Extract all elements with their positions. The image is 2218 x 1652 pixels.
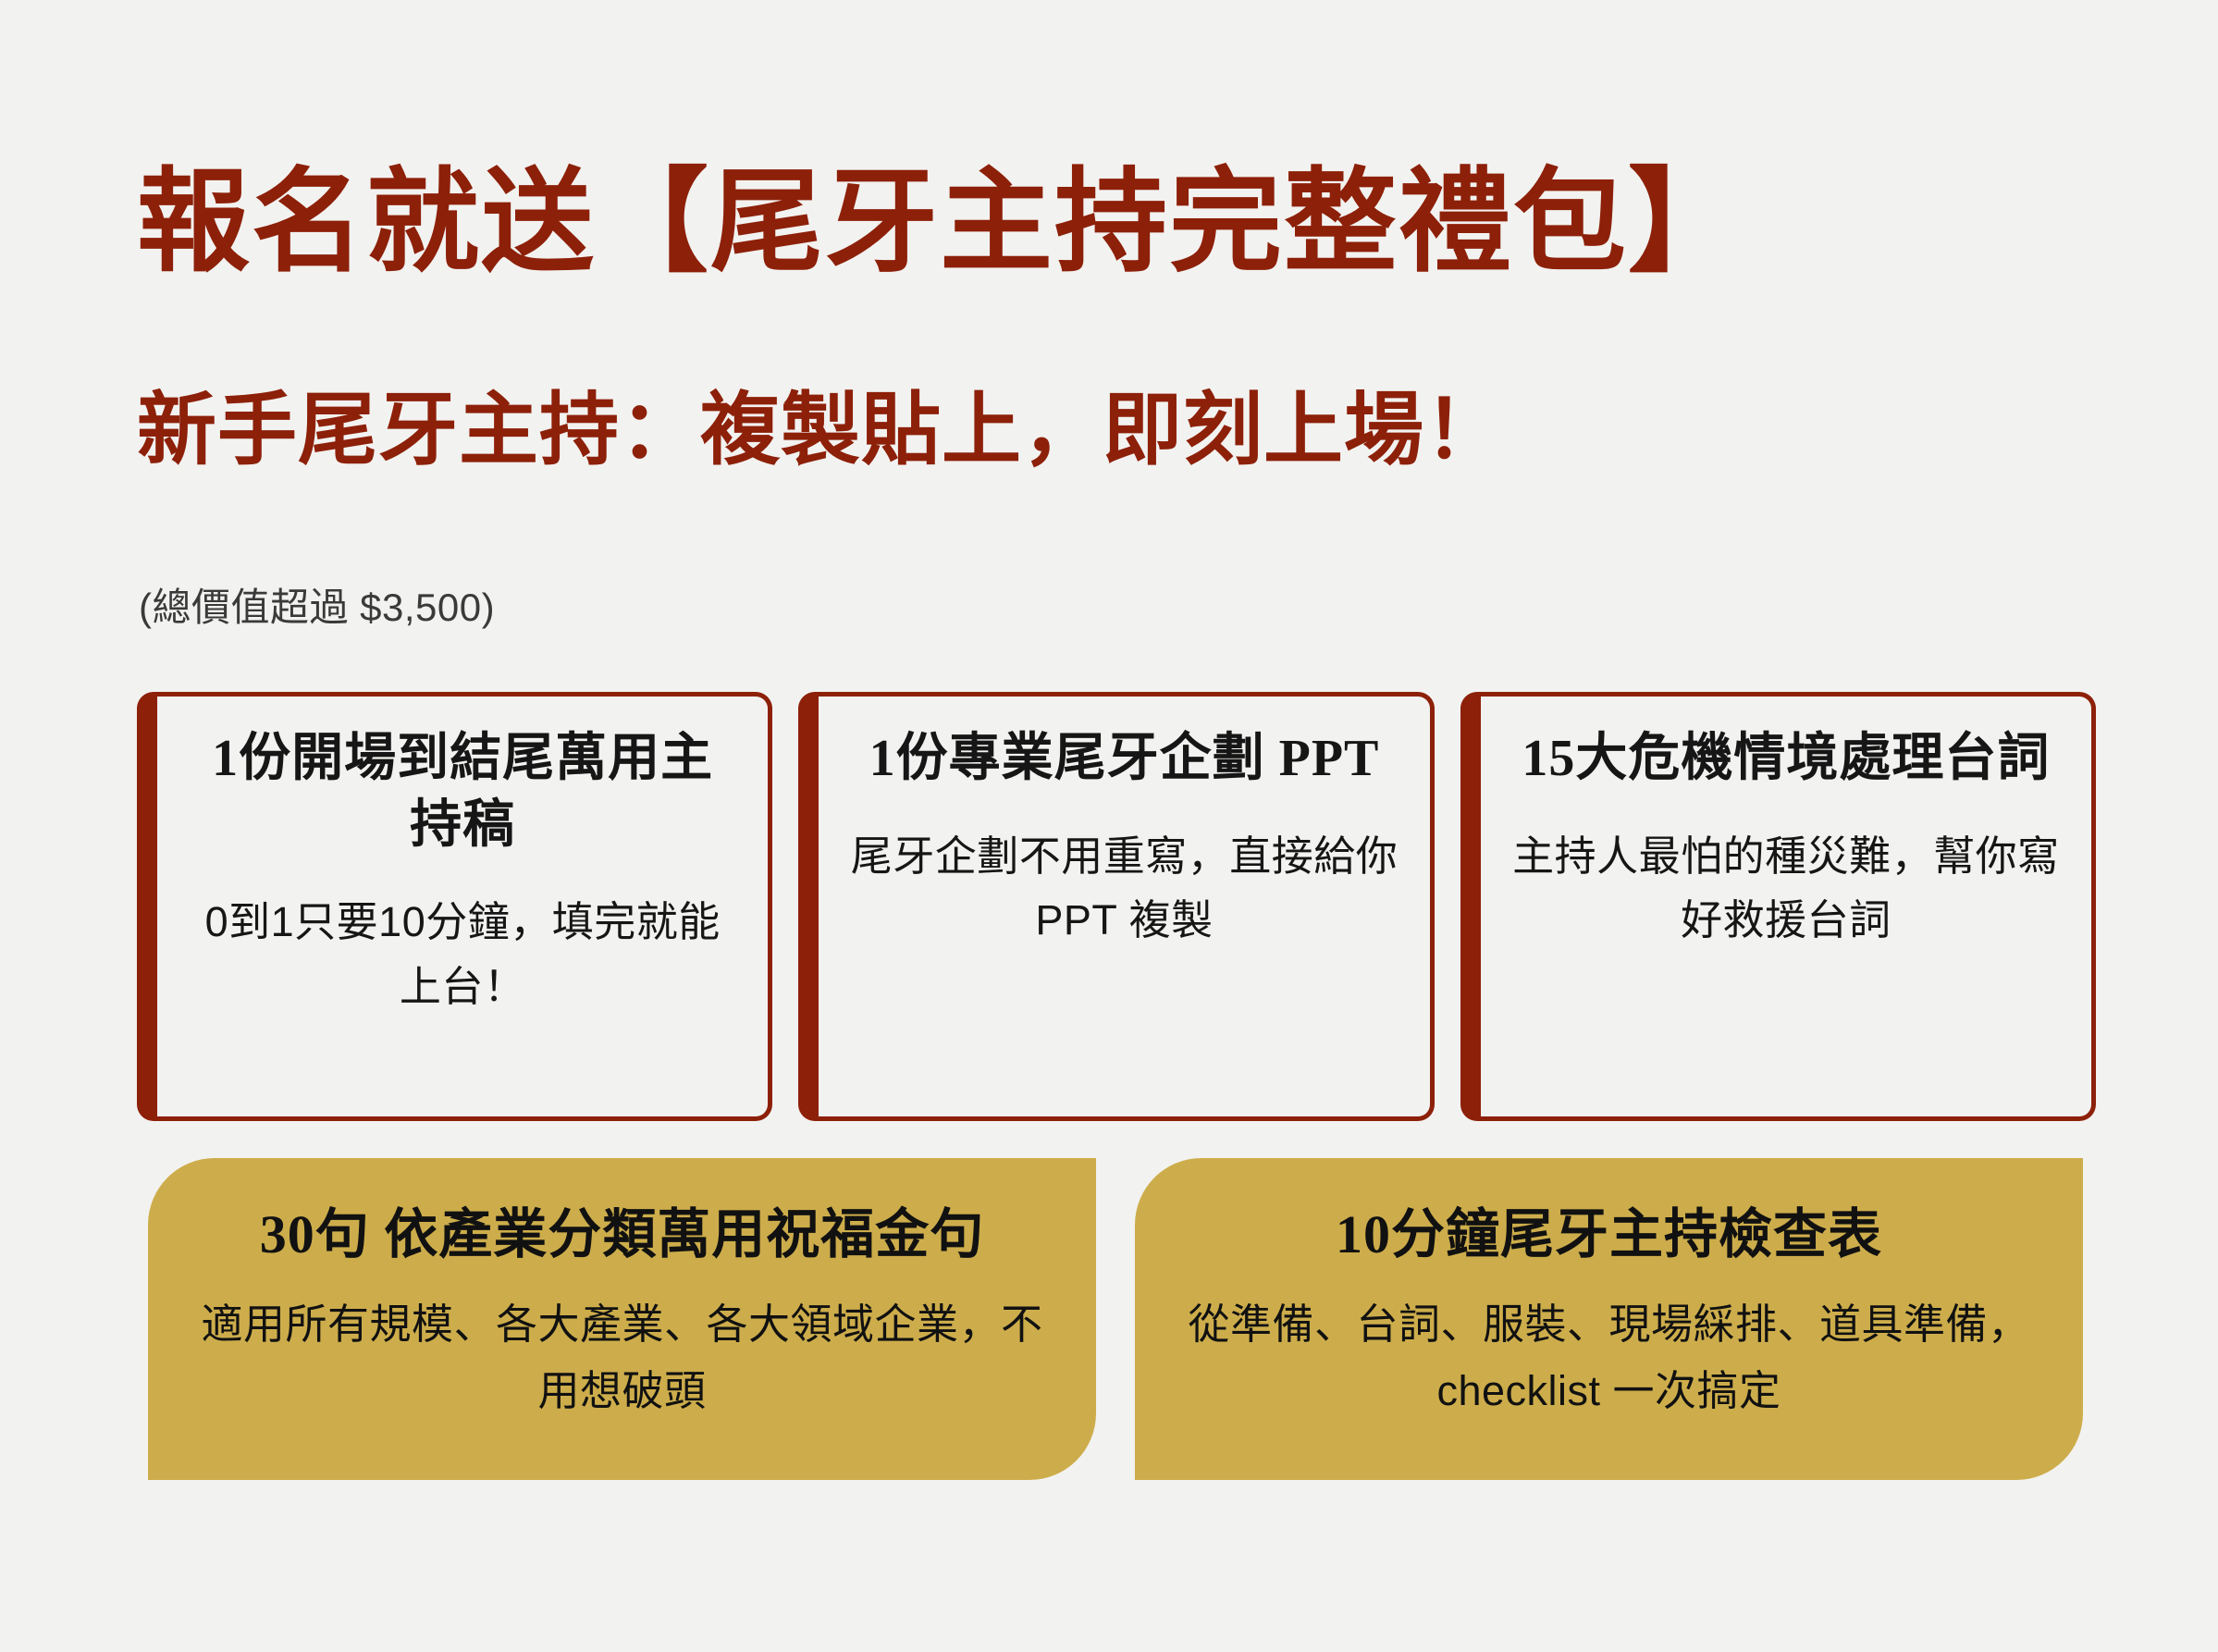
- gold-card-description: 從準備、台詞、服裝、現場綵排、道具準備，checklist 一次搞定: [1168, 1291, 2050, 1424]
- gold-card-title: 10分鐘尾牙主持檢查表: [1336, 1202, 1882, 1267]
- bonus-card-3: 15大危機情境處理台詞 主持人最怕的種災難，幫你寫好救援台詞: [1460, 692, 2096, 1121]
- gold-card-1: 30句 依產業分類萬用祝福金句 適用所有規模、各大產業、各大領域企業，不用想破頭: [148, 1158, 1096, 1480]
- bonus-card-description: 尾牙企劃不用重寫，直接給你 PPT 複製: [850, 824, 1398, 954]
- promo-slide: 報名就送【尾牙主持完整禮包】 新手尾牙主持：複製貼上，即刻上場！ (總價值超過 …: [0, 0, 2218, 1652]
- gold-card-2: 10分鐘尾牙主持檢查表 從準備、台詞、服裝、現場綵排、道具準備，checklis…: [1135, 1158, 2083, 1480]
- page-headline: 報名就送【尾牙主持完整禮包】: [137, 163, 1743, 285]
- total-value-note: (總價值超過 $3,500): [139, 576, 495, 633]
- gold-card-row: 30句 依產業分類萬用祝福金句 適用所有規模、各大產業、各大領域企業，不用想破頭…: [148, 1158, 2083, 1480]
- bonus-card-description: 0到1只要10分鐘，填完就能上台！: [189, 890, 736, 1019]
- bonus-card-1: 1份開場到結尾萬用主持稿 0到1只要10分鐘，填完就能上台！: [137, 692, 772, 1121]
- bonus-card-title: 15大危機情境處理台詞: [1522, 726, 2050, 793]
- bonus-card-row: 1份開場到結尾萬用主持稿 0到1只要10分鐘，填完就能上台！ 1份專業尾牙企劃 …: [137, 692, 2096, 1121]
- gold-card-description: 適用所有規模、各大產業、各大領域企業，不用想破頭: [181, 1291, 1063, 1424]
- bonus-card-description: 主持人最怕的種災難，幫你寫好救援台詞: [1512, 824, 2060, 954]
- bonus-card-2: 1份專業尾牙企劃 PPT 尾牙企劃不用重寫，直接給你 PPT 複製: [798, 692, 1434, 1121]
- page-subheadline: 新手尾牙主持：複製貼上，即刻上場！: [137, 387, 1505, 475]
- bonus-card-title: 1份開場到結尾萬用主持稿: [189, 726, 736, 858]
- gold-card-title: 30句 依產業分類萬用祝福金句: [260, 1202, 985, 1267]
- bonus-card-title: 1份專業尾牙企劃 PPT: [869, 726, 1380, 793]
